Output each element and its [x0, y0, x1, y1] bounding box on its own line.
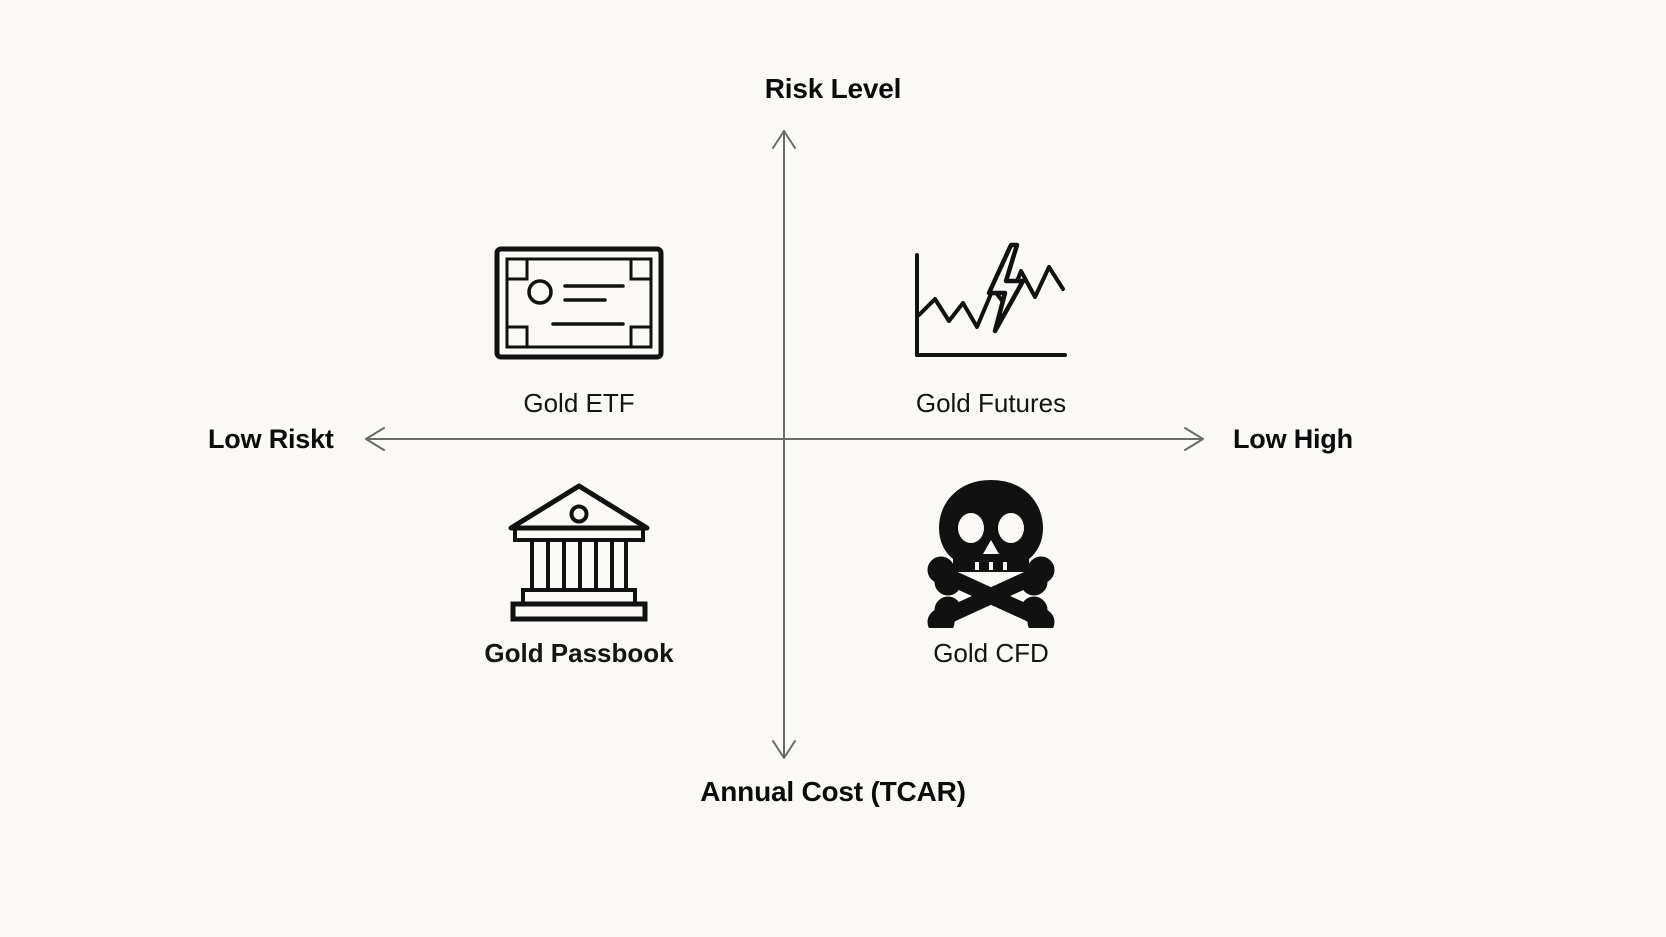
quadrant-item-gold-etf: Gold ETF: [414, 228, 744, 419]
quadrant-label-gold-etf: Gold ETF: [414, 388, 744, 419]
bank-building-icon: [414, 478, 744, 628]
quadrant-label-gold-futures: Gold Futures: [826, 388, 1156, 419]
axis-label-high-right: Low High: [1233, 424, 1353, 455]
quadrant-label-gold-passbook: Gold Passbook: [414, 638, 744, 669]
quadrant-item-gold-passbook: Gold Passbook: [414, 478, 744, 669]
quadrant-label-gold-cfd: Gold CFD: [826, 638, 1156, 669]
axis-label-low-left: Low Riskt: [208, 424, 334, 455]
diagram-canvas: Risk Level Annual Cost (TCAR) Low Riskt …: [0, 0, 1666, 937]
quadrant-item-gold-cfd: Gold CFD: [826, 478, 1156, 669]
skull-crossbones-icon: [826, 478, 1156, 628]
certificate-icon: [414, 228, 744, 378]
axis-label-risk-level: Risk Level: [0, 73, 1666, 105]
axis-label-annual-cost: Annual Cost (TCAR): [0, 776, 1666, 808]
volatile-chart-lightning-icon: [826, 228, 1156, 378]
quadrant-item-gold-futures: Gold Futures: [826, 228, 1156, 419]
